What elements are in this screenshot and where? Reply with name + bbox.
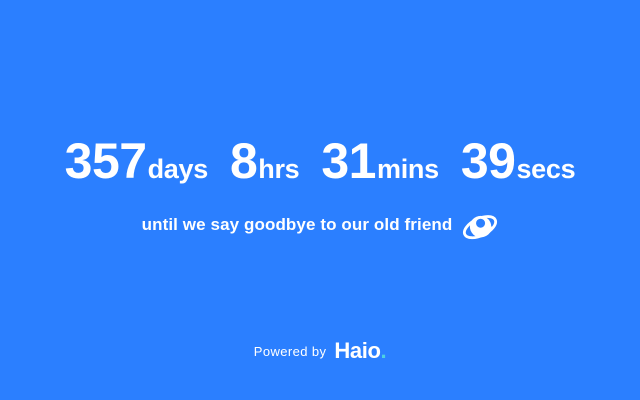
countdown-days-value: 357: [65, 136, 147, 186]
countdown-timer: 357 days 8 hrs 31 mins 39 secs: [0, 136, 640, 186]
footer: Powered by Haio.: [0, 340, 640, 362]
haio-brand-dot: .: [381, 338, 387, 363]
countdown-days-label: days: [148, 156, 208, 183]
countdown-unit-minutes: 31 mins: [321, 136, 438, 186]
countdown-minutes-label: mins: [377, 156, 439, 183]
haio-brand-text: Haio: [334, 338, 380, 363]
countdown-hours-value: 8: [230, 136, 257, 186]
countdown-minutes-value: 31: [321, 136, 376, 186]
powered-by-label: Powered by: [254, 344, 327, 359]
internet-explorer-icon: [462, 208, 498, 244]
subtitle-text: until we say goodbye to our old friend: [142, 215, 453, 235]
haio-brand-wordmark: Haio.: [334, 340, 386, 362]
countdown-seconds-value: 39: [461, 136, 516, 186]
countdown-unit-seconds: 39 secs: [461, 136, 576, 186]
countdown-page: 357 days 8 hrs 31 mins 39 secs until we …: [0, 0, 640, 400]
subtitle-row: until we say goodbye to our old friend: [0, 206, 640, 244]
countdown-hours-label: hrs: [258, 156, 299, 183]
countdown-unit-days: 357 days: [65, 136, 208, 186]
countdown-seconds-label: secs: [516, 156, 575, 183]
countdown-unit-hours: 8 hrs: [230, 136, 299, 186]
